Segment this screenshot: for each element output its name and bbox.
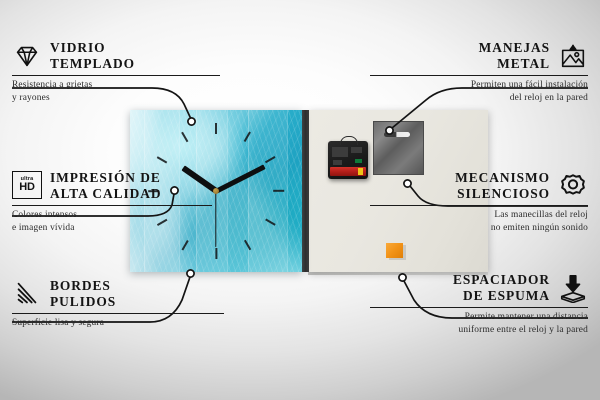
clock-movement xyxy=(328,141,368,179)
hanger-slot xyxy=(384,132,410,137)
feature-header: VIDRIO TEMPLADO xyxy=(12,40,230,72)
gear-icon xyxy=(558,171,588,201)
feature-divider xyxy=(12,75,220,77)
ultra-hd-main-text: HD xyxy=(19,182,35,193)
feature-vidrio-templado: VIDRIO TEMPLADO Resistencia a grietas y … xyxy=(12,40,230,104)
feature-header: ultra HD IMPRESIÓN DE ALTA CALIDAD xyxy=(12,170,230,202)
picture-hanger-icon xyxy=(558,41,588,71)
feature-description: Colores intensos e imagen vívida xyxy=(12,209,230,234)
feature-divider xyxy=(370,307,588,309)
feature-title: MECANISMO SILENCIOSO xyxy=(455,170,550,202)
feature-description: Las manecillas del reloj no emiten ningú… xyxy=(370,209,588,234)
movement-hanging-loop xyxy=(340,136,358,145)
feature-header: MECANISMO SILENCIOSO xyxy=(370,170,588,202)
movement-detail xyxy=(332,147,348,157)
feature-espaciador-espuma: ESPACIADOR DE ESPUMA Permite mantener un… xyxy=(370,272,588,336)
feature-title: BORDES PULIDOS xyxy=(50,278,116,310)
feature-title: ESPACIADOR DE ESPUMA xyxy=(453,272,550,304)
feature-bordes-pulidos: BORDES PULIDOS Superficie lisa y segura xyxy=(12,278,230,330)
feature-divider xyxy=(12,205,212,207)
movement-detail xyxy=(351,147,362,153)
foam-spacer-arrow-icon xyxy=(558,273,588,303)
clock-tick xyxy=(273,190,284,192)
feature-header: ESPACIADOR DE ESPUMA xyxy=(370,272,588,304)
feature-title: VIDRIO TEMPLADO xyxy=(50,40,135,72)
movement-detail xyxy=(355,159,362,163)
movement-detail xyxy=(333,160,342,165)
feature-divider xyxy=(370,75,588,77)
feature-divider xyxy=(12,313,224,315)
feature-impresion-alta-calidad: ultra HD IMPRESIÓN DE ALTA CALIDAD Color… xyxy=(12,170,230,234)
feature-divider xyxy=(370,205,588,207)
clock-side-edge xyxy=(301,110,309,272)
product-infographic: VIDRIO TEMPLADO Resistencia a grietas y … xyxy=(0,0,600,400)
battery-compartment xyxy=(330,167,366,176)
ultra-hd-icon: ultra HD xyxy=(12,171,42,201)
clock-tick xyxy=(215,248,217,259)
foam-spacer xyxy=(386,243,403,258)
feature-description: Permiten una fácil instalación del reloj… xyxy=(370,79,588,104)
feature-header: BORDES PULIDOS xyxy=(12,278,230,310)
feature-description: Permite mantener una distancia uniforme … xyxy=(370,311,588,336)
feature-header: MANEJAS METAL xyxy=(370,40,588,72)
feature-description: Superficie lisa y segura xyxy=(12,317,230,329)
feature-title: IMPRESIÓN DE ALTA CALIDAD xyxy=(50,170,161,202)
beveled-edge-icon xyxy=(12,279,42,309)
diamond-icon xyxy=(12,41,42,71)
feature-title: MANEJAS METAL xyxy=(479,40,550,72)
feature-mecanismo-silencioso: MECANISMO SILENCIOSO Las manecillas del … xyxy=(370,170,588,234)
clock-tick xyxy=(215,123,217,134)
feature-description: Resistencia a grietas y rayones xyxy=(12,79,230,104)
metal-hanger-plate xyxy=(373,121,424,175)
feature-manejas-metal: MANEJAS METAL Permiten una fácil instala… xyxy=(370,40,588,104)
